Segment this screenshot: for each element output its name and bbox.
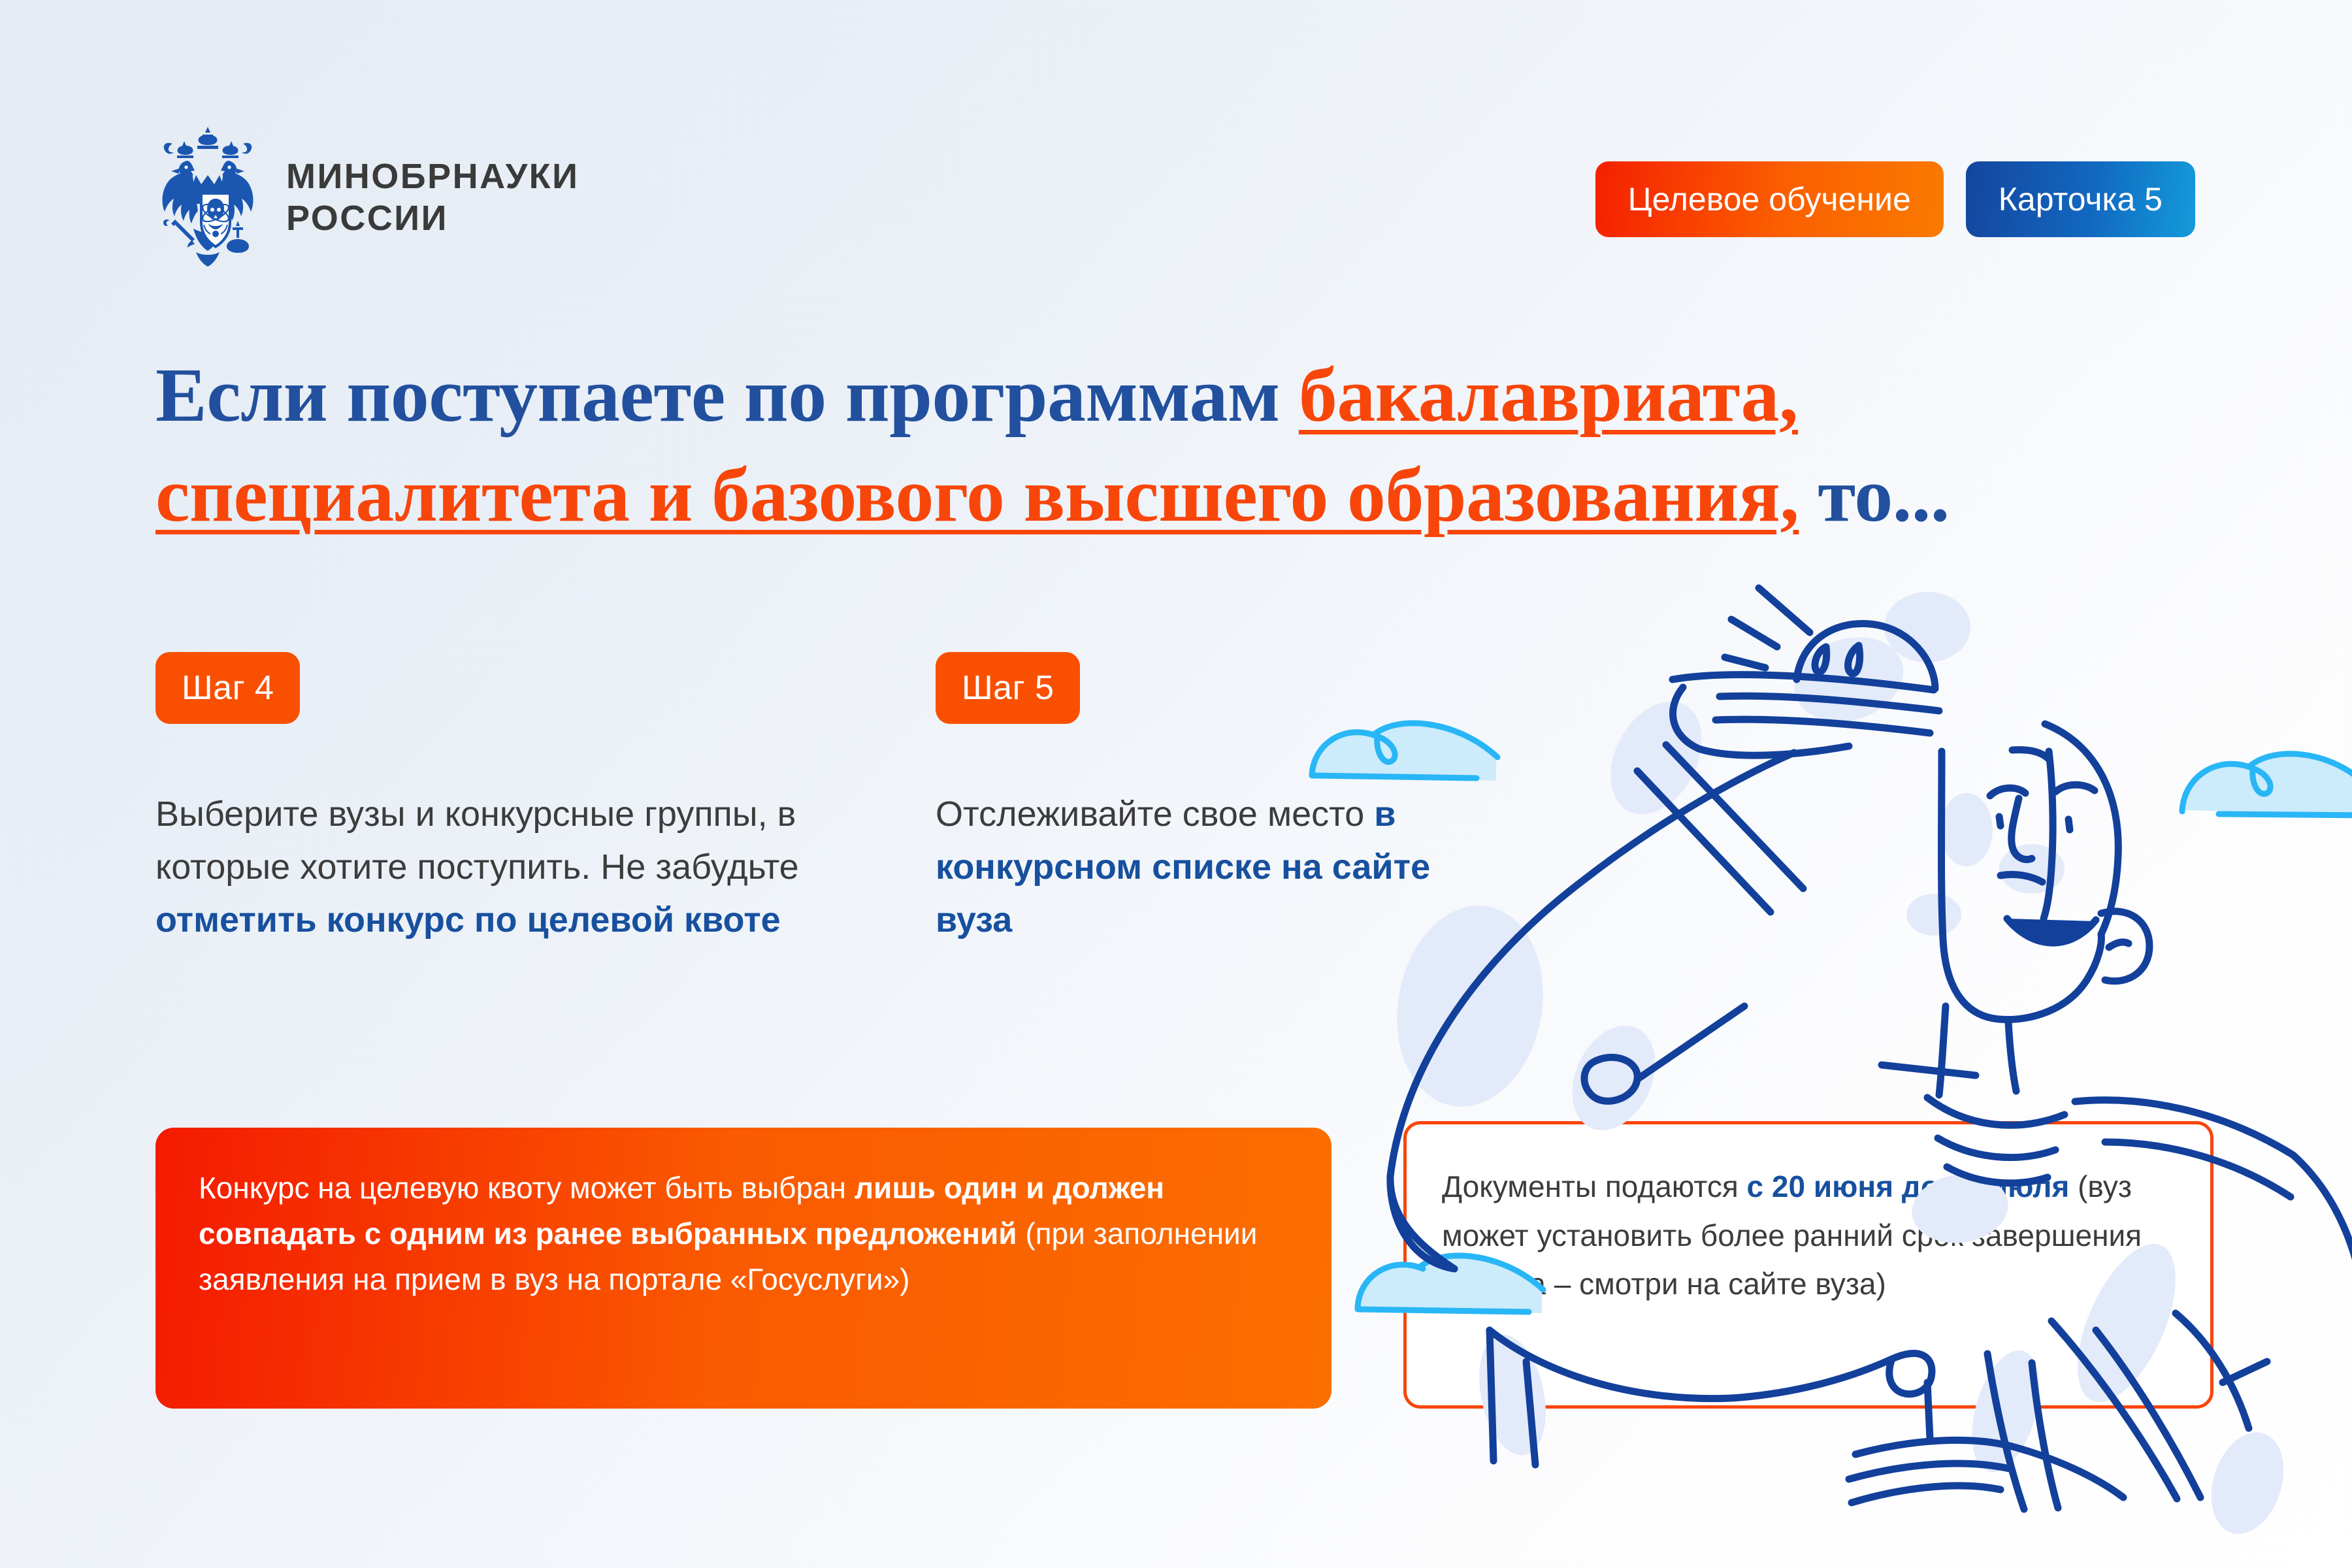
headline-part-2: то... bbox=[1799, 452, 1949, 538]
step-block-5: Шаг 5 Отслеживайте свое место в конкурсн… bbox=[936, 652, 1458, 947]
step-text-4-bold: отметить конкурс по целевой квоте bbox=[155, 900, 781, 939]
step-badge-5: Шаг 5 bbox=[936, 652, 1080, 724]
russian-coat-of-arms-icon bbox=[155, 124, 260, 271]
badge-card[interactable]: Карточка 5 bbox=[1966, 161, 2195, 237]
callout-orange-text-1: Конкурс на целевую квоту может быть выбр… bbox=[199, 1171, 855, 1205]
headline-part-1: Если поступаете по программам bbox=[155, 352, 1299, 438]
page-header: МИНОБРНАУКИ РОССИИ Целевое обучение Карт… bbox=[0, 0, 2352, 274]
step-text-5-plain: Отслеживайте свое место bbox=[936, 794, 1374, 834]
callout-white-text-1: Документы подаются bbox=[1442, 1169, 1747, 1203]
step-text-4: Выберите вузы и конкурсные группы, в кот… bbox=[155, 788, 874, 947]
callout-white-bold: с 20 июня до 25 июля bbox=[1747, 1169, 2070, 1203]
callout-quota-rule: Конкурс на целевую квоту может быть выбр… bbox=[155, 1128, 1331, 1409]
step-text-5: Отслеживайте свое место в конкурсном спи… bbox=[936, 788, 1458, 947]
badge-group: Целевое обучение Карточка 5 bbox=[1595, 161, 2195, 237]
step-text-4-plain: Выберите вузы и конкурсные группы, в кот… bbox=[155, 794, 799, 887]
badge-topic[interactable]: Целевое обучение bbox=[1595, 161, 1944, 237]
callout-deadlines: Документы подаются с 20 июня до 25 июля … bbox=[1403, 1121, 2213, 1409]
page-title: Если поступаете по программам бакалавриа… bbox=[155, 345, 2233, 546]
cloud-right-icon bbox=[2156, 712, 2352, 836]
ministry-name: МИНОБРНАУКИ РОССИИ bbox=[286, 156, 579, 238]
brand-lockup: МИНОБРНАУКИ РОССИИ bbox=[155, 124, 579, 271]
step-badge-4: Шаг 4 bbox=[155, 652, 300, 724]
step-block-4: Шаг 4 Выберите вузы и конкурсные группы,… bbox=[155, 652, 874, 947]
